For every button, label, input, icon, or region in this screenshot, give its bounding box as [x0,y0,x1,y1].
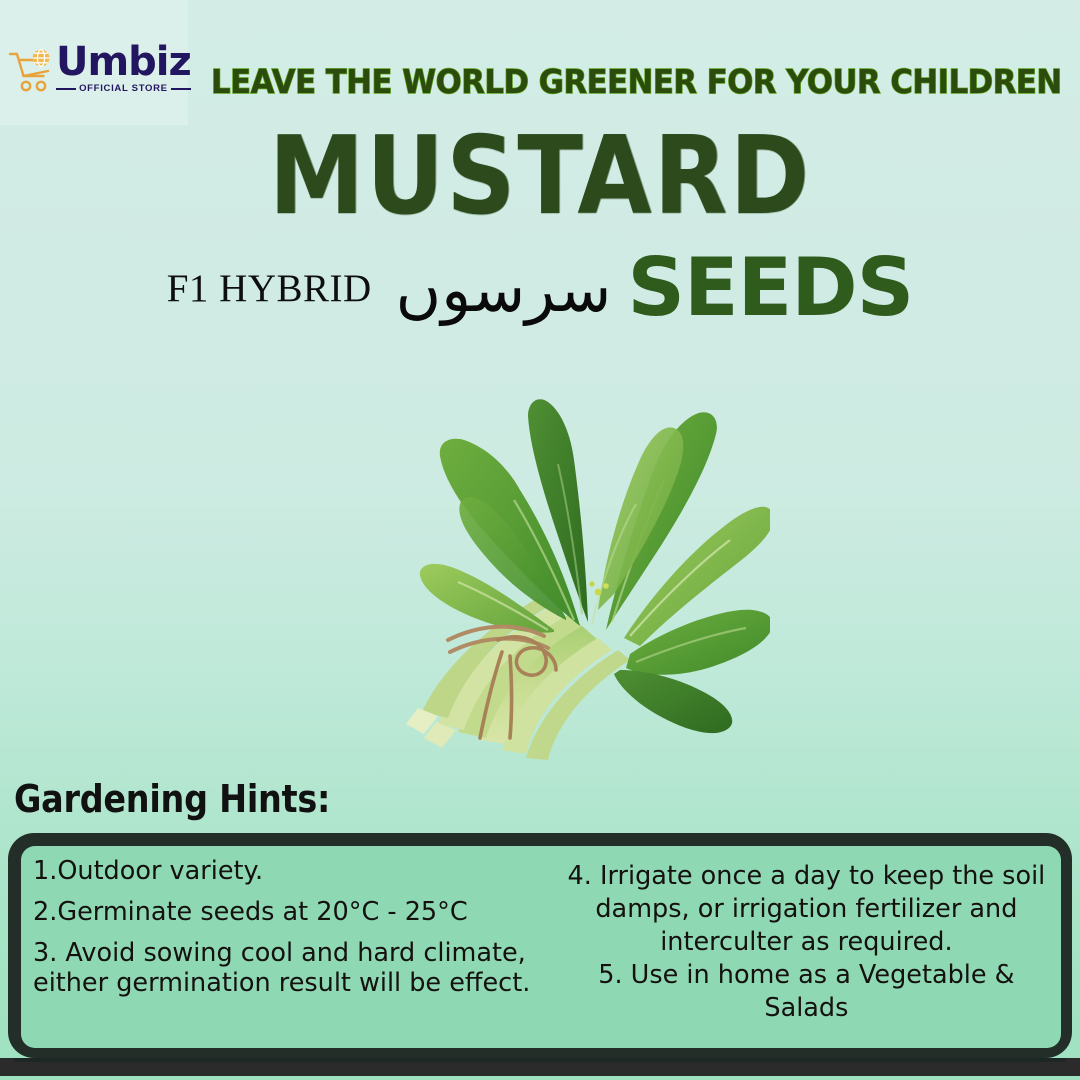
hint-item: 3. Avoid sowing cool and hard climate, e… [33,938,556,998]
gardening-hints-box: 1.Outdoor variety. 2.Germinate seeds at … [8,833,1072,1058]
gardening-hints-inner: 1.Outdoor variety. 2.Germinate seeds at … [21,846,1061,1048]
subtitle-rule-right [171,88,191,90]
brand-subtitle-row: OFFICIAL STORE [56,83,191,94]
gardening-hints-heading: Gardening Hints: [14,780,373,818]
hint-item: 4. Irrigate once a day to keep the soil … [566,860,1047,959]
urdu-product-name: سرسوں [396,259,612,321]
page-title-text: MUSTARD [269,122,812,230]
hybrid-label: F1 HYBRID [167,269,372,308]
header-tagline-text: LEAVE THE WORLD GREENER FOR YOUR CHILDRE… [211,65,1062,98]
brand-logo-text: Umbiz OFFICIAL STORE [56,42,191,94]
brand-logo[interactable]: Umbiz OFFICIAL STORE [8,42,188,104]
subtitle-rule-left [56,88,76,90]
subtitle-row: F1 HYBRID سرسوں SEEDS [0,248,1080,328]
shopping-cart-globe-icon [8,46,54,96]
seeds-label: SEEDS [627,248,913,328]
bottom-dark-band [0,1058,1080,1076]
brand-subtitle: OFFICIAL STORE [76,83,171,94]
bottom-mint-edge [0,1076,1080,1080]
gardening-hints-heading-text: Gardening Hints: [14,780,330,818]
header-tagline: LEAVE THE WORLD GREENER FOR YOUR CHILDRE… [196,58,1076,104]
hints-column-left: 1.Outdoor variety. 2.Germinate seeds at … [21,846,562,1048]
hints-column-right: 4. Irrigate once a day to keep the soil … [562,846,1061,1048]
bottom-inner-strip [14,1058,1066,1062]
hint-item: 5. Use in home as a Vegetable & Salads [566,959,1047,1025]
mustard-greens-bundle-photo [330,340,770,790]
hint-item: 2.Germinate seeds at 20°C - 25°C [33,897,556,927]
page-title: MUSTARD [0,128,1080,224]
brand-name: Umbiz [56,39,191,85]
product-poster: Umbiz OFFICIAL STORE LEAVE THE WORLD GRE… [0,0,1080,1080]
hint-item: 1.Outdoor variety. [33,856,556,886]
